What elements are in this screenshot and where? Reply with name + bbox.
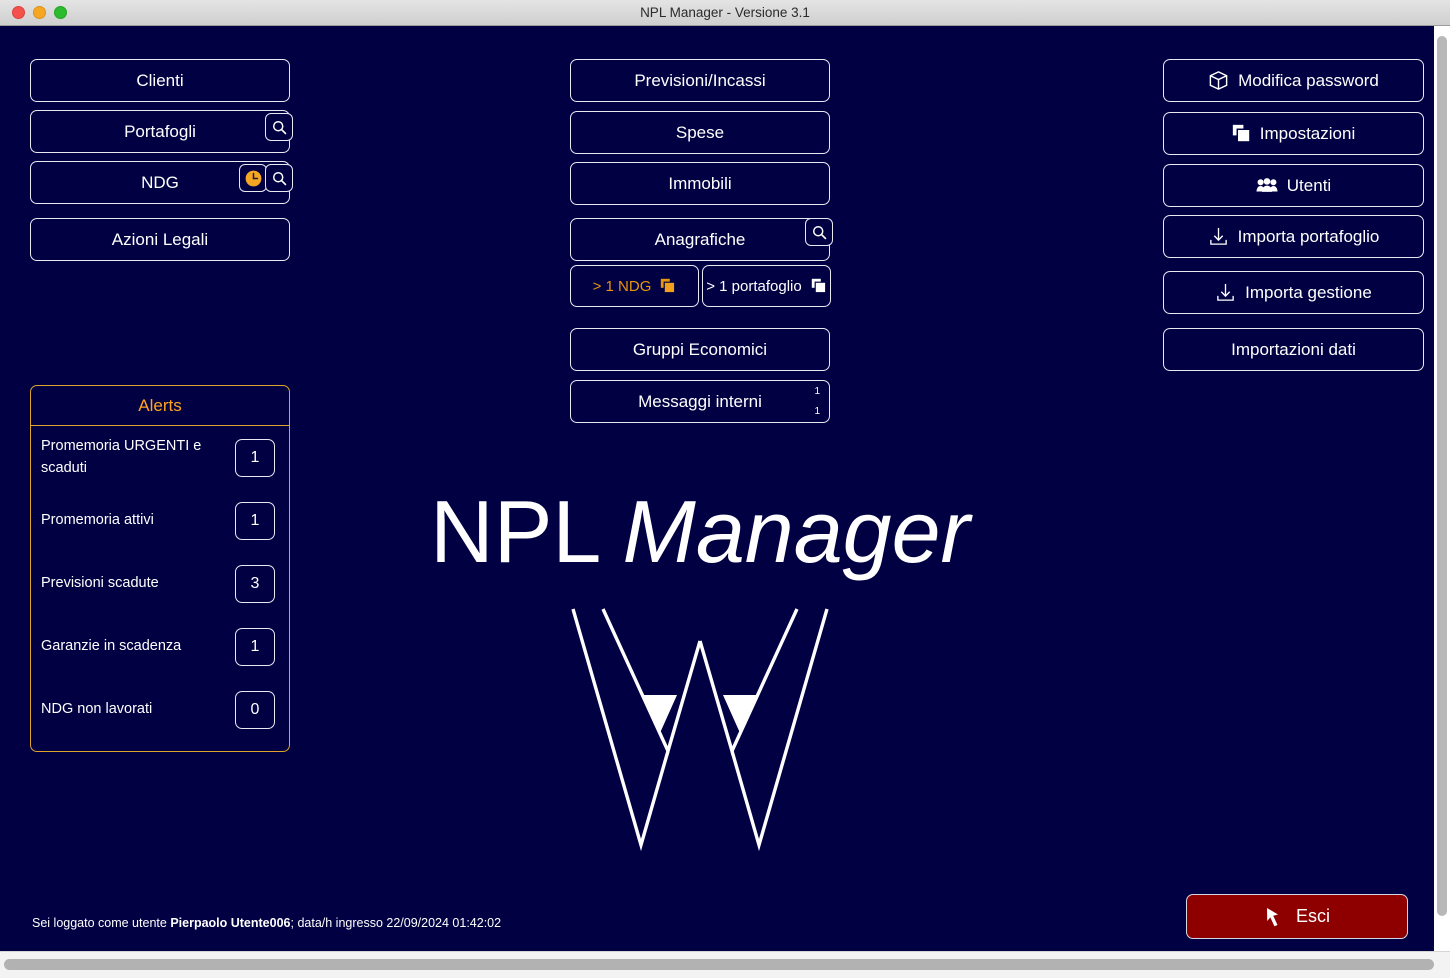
messaggi-badge-top: 1 <box>814 386 820 397</box>
nav-button-portafogli[interactable]: Portafogli <box>30 110 290 153</box>
alert-row[interactable]: Promemoria attivi 1 <box>31 489 289 552</box>
clock-icon <box>244 169 263 188</box>
logo-text-regular: NPL <box>430 482 622 581</box>
window-titlebar: NPL Manager - Versione 3.1 <box>0 0 1450 26</box>
status-username: Pierpaolo Utente006 <box>170 916 290 930</box>
logo-text-italic: Manager <box>623 482 970 581</box>
nav-button-modifica-password-label: Modifica password <box>1238 71 1379 91</box>
nav-button-previsioni-incassi-label: Previsioni/Incassi <box>634 71 765 91</box>
search-icon-ndg[interactable] <box>265 164 293 192</box>
alert-label: Garanzie in scadenza <box>41 636 235 657</box>
alert-count-badge[interactable]: 1 <box>235 502 275 540</box>
nav-button-messaggi-interni[interactable]: Messaggi interni 1 1 <box>570 380 830 423</box>
alert-row[interactable]: Garanzie in scadenza 1 <box>31 615 289 678</box>
alert-label: Promemoria URGENTI e scaduti <box>41 436 235 478</box>
copy-icon <box>811 278 827 294</box>
nav-button-importa-portafoglio-label: Importa portafoglio <box>1238 227 1380 247</box>
filter-button-piu-di-1-ndg-label: > 1 NDG <box>593 278 652 295</box>
horizontal-scrollbar-thumb[interactable] <box>4 959 1434 970</box>
nav-button-importa-gestione[interactable]: Importa gestione <box>1163 271 1424 314</box>
nav-button-importazioni-dati-label: Importazioni dati <box>1231 340 1356 360</box>
filter-button-piu-di-1-portafoglio-label: > 1 portafoglio <box>706 278 802 295</box>
exit-button[interactable]: Esci <box>1186 894 1408 939</box>
nav-button-clienti-label: Clienti <box>136 71 183 91</box>
nav-button-immobili[interactable]: Immobili <box>570 162 830 205</box>
search-icon-portafogli[interactable] <box>265 113 293 141</box>
nav-button-gruppi-economici-label: Gruppi Economici <box>633 340 767 360</box>
search-icon-anagrafiche[interactable] <box>805 218 833 246</box>
application-window: NPL Manager - Versione 3.1 Clienti Porta… <box>0 0 1450 978</box>
logo-wordmark: NPL Manager <box>430 481 970 583</box>
nav-button-clienti[interactable]: Clienti <box>30 59 290 102</box>
nav-button-messaggi-interni-label: Messaggi interni <box>638 392 762 412</box>
app-logo: NPL Manager <box>400 481 1000 871</box>
nav-button-portafogli-label: Portafogli <box>124 122 196 142</box>
download-icon <box>1208 226 1229 247</box>
status-bar-text: Sei loggato come utente Pierpaolo Utente… <box>32 916 501 930</box>
search-icon <box>271 119 288 136</box>
alert-count-badge[interactable]: 1 <box>235 628 275 666</box>
clock-icon-ndg[interactable] <box>239 164 267 192</box>
horizontal-scrollbar[interactable] <box>0 951 1450 978</box>
alert-label: Promemoria attivi <box>41 510 235 531</box>
status-prefix: Sei loggato come utente <box>32 916 167 930</box>
nav-button-immobili-label: Immobili <box>668 174 731 194</box>
main-canvas: Clienti Portafogli NDG <box>0 26 1434 951</box>
nav-button-ndg-label: NDG <box>141 173 179 193</box>
window-title: NPL Manager - Versione 3.1 <box>0 5 1450 20</box>
filter-button-piu-di-1-ndg[interactable]: > 1 NDG <box>570 265 699 307</box>
package-box-icon <box>1208 70 1229 91</box>
vertical-scrollbar-thumb[interactable] <box>1437 36 1447 916</box>
search-icon <box>271 170 288 187</box>
status-suffix: ; data/h ingresso 22/09/2024 01:42:02 <box>291 916 502 930</box>
users-group-icon <box>1256 177 1278 194</box>
alert-row[interactable]: Previsioni scadute 3 <box>31 552 289 615</box>
nav-button-importa-gestione-label: Importa gestione <box>1245 283 1372 303</box>
exit-button-label: Esci <box>1296 906 1330 927</box>
nav-button-previsioni-incassi[interactable]: Previsioni/Incassi <box>570 59 830 102</box>
nav-button-azioni-legali[interactable]: Azioni Legali <box>30 218 290 261</box>
nav-button-azioni-legali-label: Azioni Legali <box>112 230 208 250</box>
nav-button-impostazioni[interactable]: Impostazioni <box>1163 112 1424 155</box>
alert-row[interactable]: Promemoria URGENTI e scaduti 1 <box>31 426 289 489</box>
alert-count-badge[interactable]: 3 <box>235 565 275 603</box>
nav-button-utenti[interactable]: Utenti <box>1163 164 1424 207</box>
filter-button-piu-di-1-portafoglio[interactable]: > 1 portafoglio <box>702 265 831 307</box>
nav-button-anagrafiche[interactable]: Anagrafiche <box>570 218 830 261</box>
alerts-panel: Alerts Promemoria URGENTI e scaduti 1 Pr… <box>30 385 290 752</box>
alert-label: NDG non lavorati <box>41 699 235 720</box>
download-icon <box>1215 282 1236 303</box>
nav-button-impostazioni-label: Impostazioni <box>1260 124 1355 144</box>
exit-arrow-icon <box>1264 906 1286 928</box>
alerts-title: Alerts <box>31 386 289 426</box>
nav-button-importazioni-dati[interactable]: Importazioni dati <box>1163 328 1424 371</box>
nav-button-anagrafiche-label: Anagrafiche <box>655 230 746 250</box>
copy-icon <box>1232 124 1251 143</box>
nav-button-spese-label: Spese <box>676 123 724 143</box>
copy-icon <box>660 278 676 294</box>
search-icon <box>811 224 828 241</box>
nav-button-gruppi-economici[interactable]: Gruppi Economici <box>570 328 830 371</box>
alert-count-badge[interactable]: 1 <box>235 439 275 477</box>
nav-button-utenti-label: Utenti <box>1287 176 1331 196</box>
vertical-scrollbar[interactable] <box>1434 26 1450 951</box>
messaggi-badge-bottom: 1 <box>814 406 820 417</box>
alert-row[interactable]: NDG non lavorati 0 <box>31 678 289 741</box>
nav-button-modifica-password[interactable]: Modifica password <box>1163 59 1424 102</box>
nav-button-spese[interactable]: Spese <box>570 111 830 154</box>
alert-count-badge[interactable]: 0 <box>235 691 275 729</box>
w-mark-icon <box>565 605 835 855</box>
nav-button-importa-portafoglio[interactable]: Importa portafoglio <box>1163 215 1424 258</box>
alert-label: Previsioni scadute <box>41 573 235 594</box>
